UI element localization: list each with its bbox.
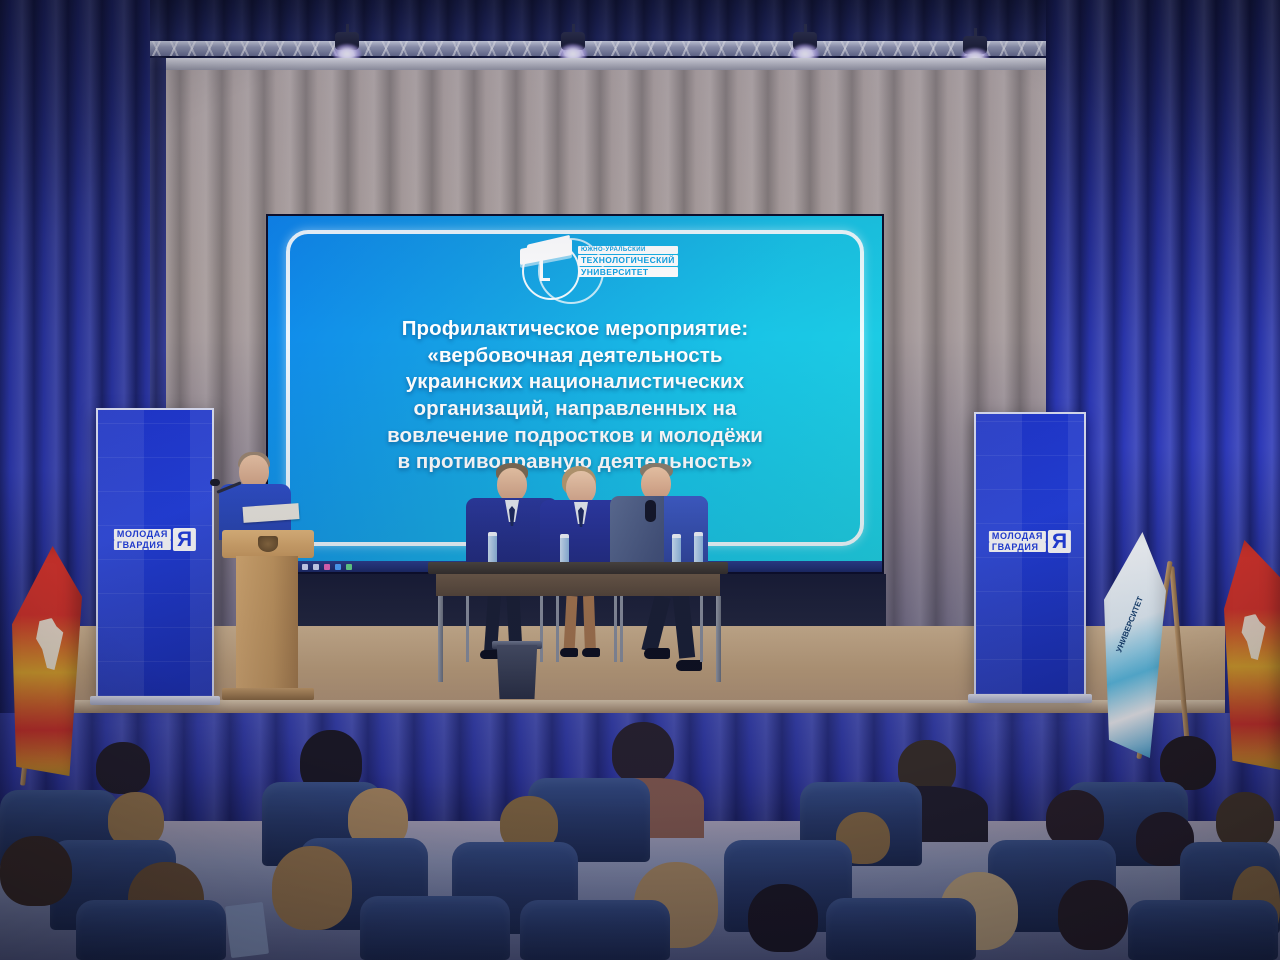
panelist-2-shoe <box>582 648 600 657</box>
slide-title-line: организаций, направленных на <box>290 396 860 423</box>
panel-table-apron <box>436 574 720 596</box>
taskbar-app-icon[interactable] <box>346 564 352 570</box>
chair-leg <box>700 590 703 662</box>
podium-base <box>222 688 314 700</box>
slide-title-line: Профилактическое мероприятие: <box>290 316 860 343</box>
panel-table-top <box>428 562 728 574</box>
taskbar-app-icon[interactable] <box>313 564 319 570</box>
microphone-icon <box>210 479 220 486</box>
banner-right-line2: ГВАРДИЯ <box>989 542 1046 552</box>
panelist-3-shoe <box>644 648 670 659</box>
audience-seat[interactable] <box>520 900 670 960</box>
audience-head <box>272 846 352 930</box>
banner-left-foot <box>90 696 220 705</box>
podium <box>236 556 298 690</box>
logo-line-2: ТЕХНОЛОГИЧЕСКИЙ <box>578 255 678 266</box>
banner-left-line2: ГВАРДИЯ <box>114 540 171 550</box>
banner-right: МОЛОДАЯ ГВАРДИЯ Я <box>974 412 1086 696</box>
table-leg <box>716 596 721 682</box>
flag-university-text: УНИВЕРСИТЕТ <box>1114 595 1145 653</box>
banner-right-badge: Я <box>1048 530 1071 553</box>
chair-leg <box>620 590 623 662</box>
water-bottle <box>488 532 497 566</box>
university-logo: ЮЖНО-УРАЛЬСКИЙ ТЕХНОЛОГИЧЕСКИЙ УНИВЕРСИТ… <box>268 240 882 298</box>
audience-head <box>96 742 150 794</box>
panelist-2-leg <box>583 596 596 652</box>
banner-right-logo: МОЛОДАЯ ГВАРДИЯ Я <box>989 530 1071 553</box>
logo-stem-foot-icon <box>540 278 550 281</box>
taskbar-app-icon[interactable] <box>324 564 330 570</box>
logo-line-3: УНИВЕРСИТЕТ <box>578 267 678 278</box>
curtain-rail <box>96 58 1096 70</box>
slide-title-line: украинских националистических <box>290 369 860 396</box>
water-bottle <box>694 532 703 566</box>
chair-leg <box>614 590 617 662</box>
audience-head <box>748 884 818 952</box>
chair-leg <box>540 590 543 662</box>
audience-seat[interactable] <box>360 896 510 960</box>
audience-seat[interactable] <box>1128 900 1278 960</box>
slide-title: Профилактическое мероприятие: «вербовочн… <box>290 316 860 476</box>
podium-emblem <box>258 536 278 552</box>
panelist-2-shoe <box>560 648 578 657</box>
audience-seat[interactable] <box>76 900 226 960</box>
audience-head <box>1058 880 1128 950</box>
banner-right-line1: МОЛОДАЯ <box>989 531 1046 541</box>
slide-title-line: «вербовочная деятельность <box>290 343 860 370</box>
table-leg <box>438 596 443 682</box>
handheld-microphone-icon <box>645 500 656 522</box>
logo-stem-icon <box>540 258 543 280</box>
banner-left: МОЛОДАЯ ГВАРДИЯ Я <box>96 408 214 698</box>
logo-line-1: ЮЖНО-УРАЛЬСКИЙ <box>578 246 678 254</box>
panelist-1-head <box>497 468 527 502</box>
auditorium-photo: ЮЖНО-УРАЛЬСКИЙ ТЕХНОЛОГИЧЕСКИЙ УНИВЕРСИТ… <box>0 0 1280 960</box>
slide-title-line: вовлечение подростков и молодёжи <box>290 423 860 450</box>
panelist-3-shoe <box>676 660 702 671</box>
banner-left-logo: МОЛОДАЯ ГВАРДИЯ Я <box>114 528 196 551</box>
audience-seat[interactable] <box>826 898 976 960</box>
banner-left-badge: Я <box>173 528 196 551</box>
audience-head <box>0 836 72 906</box>
chair-leg <box>466 590 469 662</box>
taskbar-app-icon[interactable] <box>302 564 308 570</box>
banner-left-line1: МОЛОДАЯ <box>114 529 171 539</box>
waste-bin <box>494 645 540 699</box>
taskbar-app-icon[interactable] <box>335 564 341 570</box>
audience-head <box>612 722 674 784</box>
audience-tablet <box>225 902 269 958</box>
banner-right-foot <box>968 694 1092 703</box>
chair-leg <box>556 590 559 662</box>
